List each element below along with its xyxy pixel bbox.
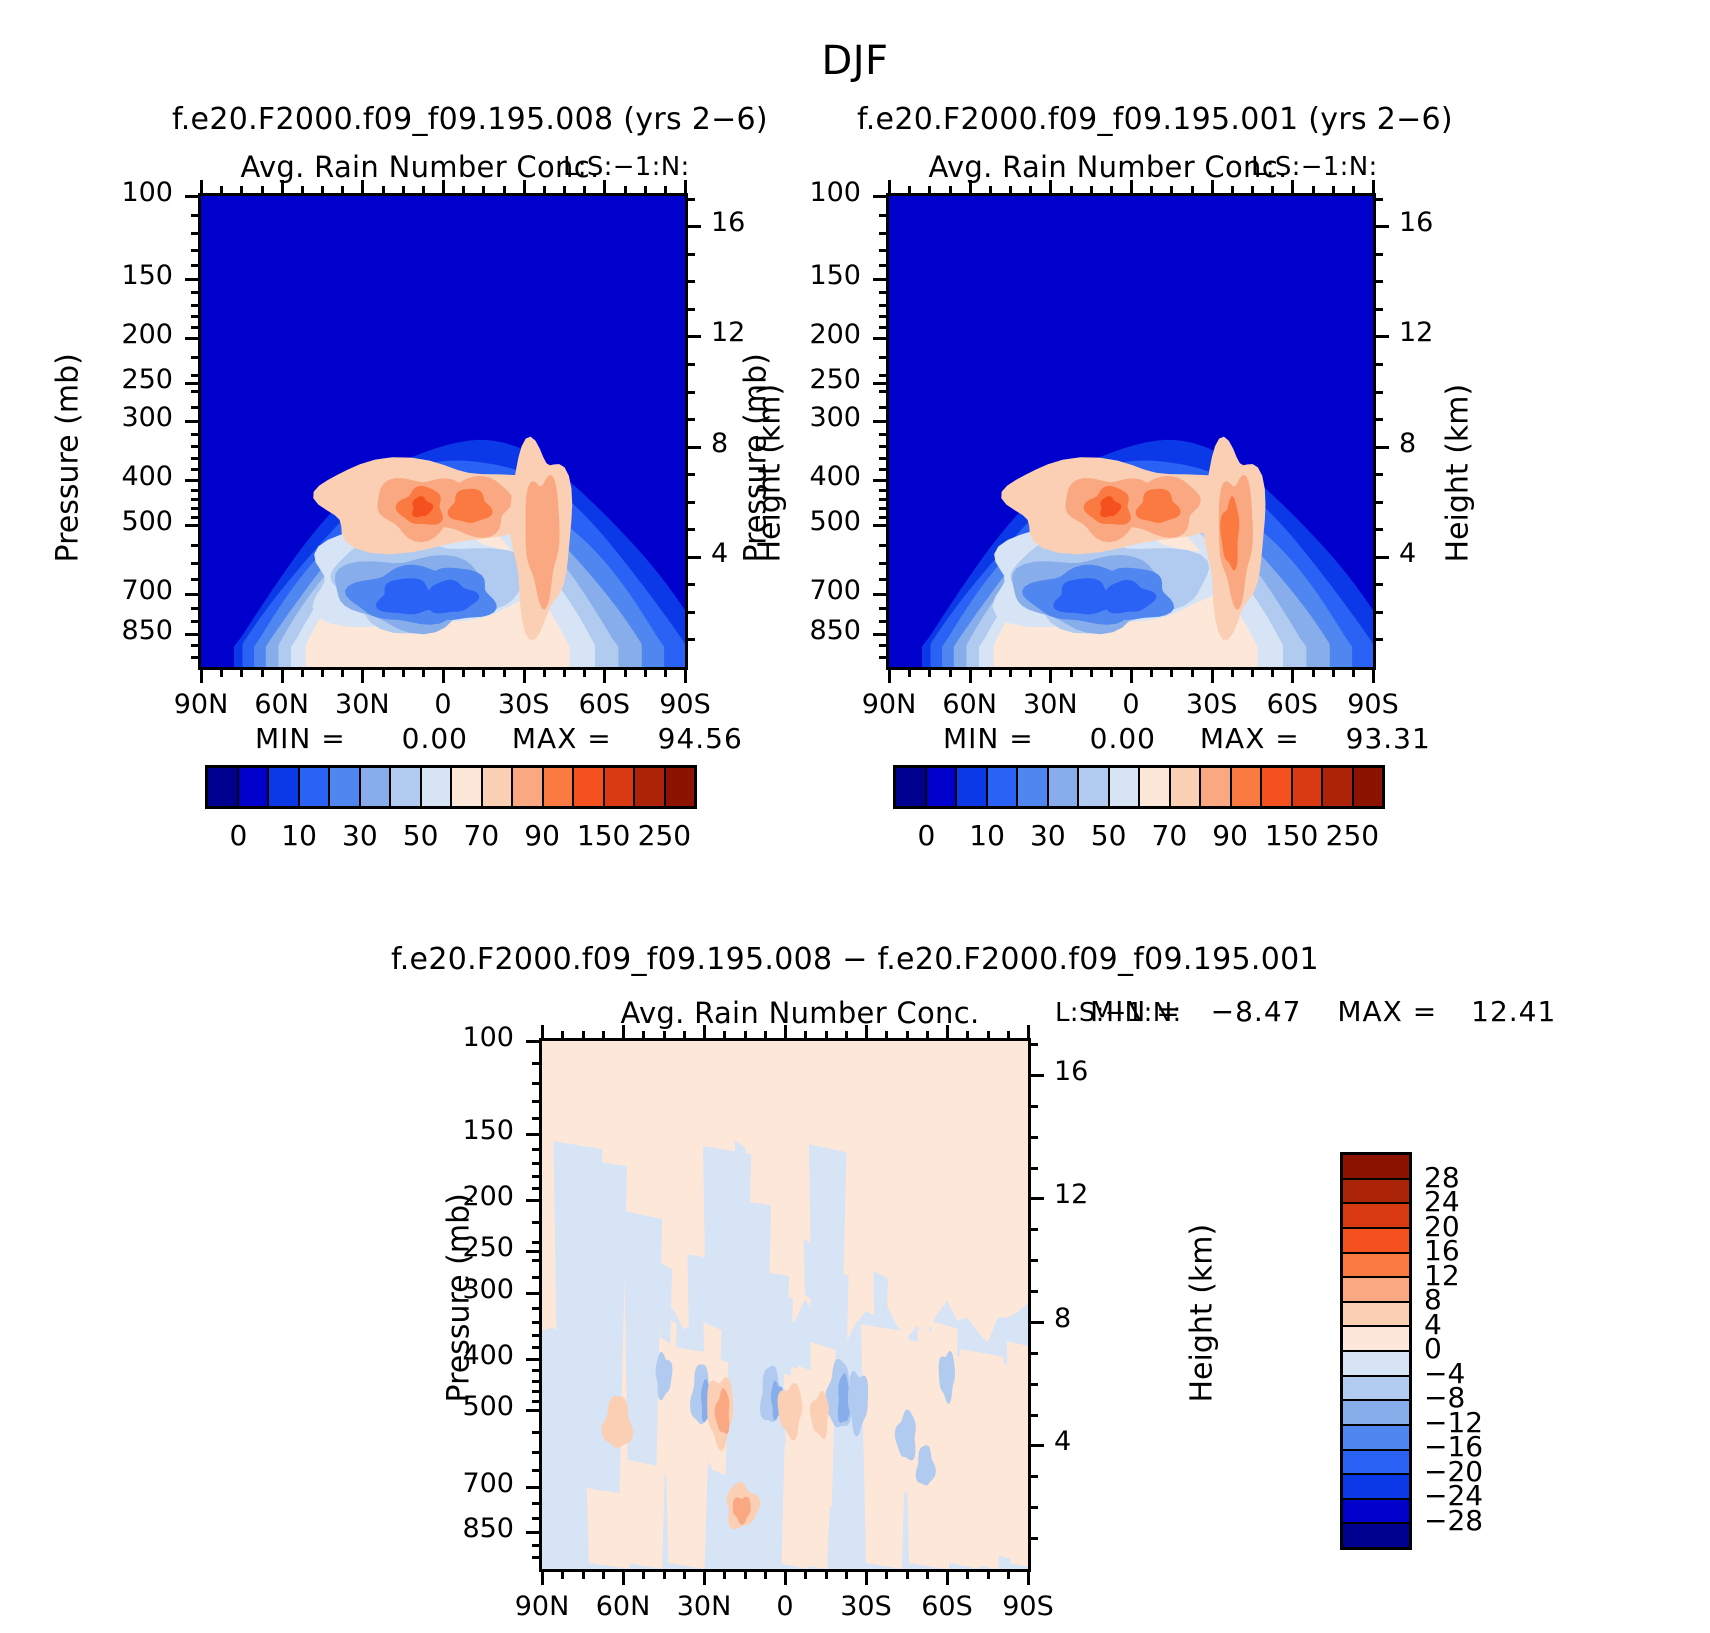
axis-tick xyxy=(442,667,445,683)
colorbar-swatch[interactable] xyxy=(574,768,605,806)
colorbar-swatch[interactable] xyxy=(1293,768,1324,806)
axis-tick xyxy=(532,1162,542,1165)
panel-difference-colorbar[interactable] xyxy=(1340,1152,1412,1550)
axis-tick xyxy=(885,1031,888,1041)
panel-top-left-ls-note: L:S:−1:N: xyxy=(563,152,690,182)
panel-top-right-max-value: 93.31 xyxy=(1346,722,1431,755)
axis-tick-label: 60S xyxy=(1249,689,1335,720)
axis-tick-label: 100 xyxy=(428,1022,514,1053)
axis-tick xyxy=(532,1380,542,1383)
colorbar-swatch[interactable] xyxy=(1343,1180,1409,1205)
axis-tick xyxy=(685,501,695,504)
axis-tick xyxy=(879,620,889,623)
axis-tick xyxy=(532,1469,542,1472)
panel-difference-height-axis-label: Height (km) xyxy=(1185,1143,1220,1403)
axis-tick xyxy=(532,1390,542,1393)
colorbar-swatch[interactable] xyxy=(1343,1524,1409,1547)
colorbar-tick-label: 250 xyxy=(638,819,690,852)
axis-tick-label: 0 xyxy=(1088,689,1174,720)
axis-tick xyxy=(1009,186,1012,196)
panel-top-left-min-label: MIN = xyxy=(255,722,346,755)
axis-tick xyxy=(1028,1290,1038,1293)
axis-tick-label: 30N xyxy=(661,1591,747,1622)
axis-tick xyxy=(532,1544,542,1547)
axis-tick xyxy=(583,186,586,196)
axis-tick xyxy=(644,186,647,196)
colorbar-swatch[interactable] xyxy=(1323,768,1354,806)
axis-tick xyxy=(684,667,687,683)
colorbar-swatch[interactable] xyxy=(1343,1327,1409,1352)
axis-tick xyxy=(764,1569,767,1579)
axis-tick-label: 30N xyxy=(1007,689,1093,720)
axis-tick xyxy=(1049,180,1052,196)
axis-tick xyxy=(1150,667,1153,677)
axis-tick xyxy=(185,633,201,636)
axis-tick-label: 4 xyxy=(1054,1426,1140,1457)
axis-tick-label: 8 xyxy=(1054,1303,1140,1334)
colorbar-swatch[interactable] xyxy=(1343,1475,1409,1500)
axis-tick-label: 90N xyxy=(158,689,244,720)
panel-difference-plot-area[interactable] xyxy=(539,1038,1031,1572)
colorbar-swatch[interactable] xyxy=(1343,1278,1409,1303)
colorbar-swatch[interactable] xyxy=(1343,1500,1409,1525)
axis-tick xyxy=(873,524,889,527)
axis-tick xyxy=(949,667,952,677)
axis-tick xyxy=(1373,225,1389,228)
axis-tick xyxy=(191,507,201,510)
panel-top-right-case-title: f.e20.F2000.f09_f09.195.001 (yrs 2−6) xyxy=(745,102,1565,137)
axis-tick xyxy=(703,1569,706,1585)
panel-top-left-min-value: 0.00 xyxy=(402,722,468,755)
axis-tick xyxy=(663,1031,666,1041)
colorbar-tick-label: 70 xyxy=(455,819,507,852)
axis-tick xyxy=(1291,180,1294,196)
axis-tick xyxy=(191,489,201,492)
axis-tick xyxy=(1049,667,1052,683)
panel-difference-minmax: MIN = −8.47 MAX = 12.41 xyxy=(1090,995,1556,1028)
axis-tick xyxy=(1373,583,1383,586)
panel-difference-max-value: 12.41 xyxy=(1471,995,1556,1028)
axis-tick xyxy=(685,638,695,641)
axis-tick xyxy=(879,644,889,647)
axis-tick xyxy=(879,264,889,267)
axis-tick-label: 60S xyxy=(904,1591,990,1622)
axis-tick xyxy=(563,667,566,677)
axis-tick xyxy=(1007,1031,1010,1041)
axis-tick-label: 850 xyxy=(775,615,861,646)
colorbar-swatch[interactable] xyxy=(988,768,1019,806)
axis-tick xyxy=(744,1569,747,1579)
axis-tick xyxy=(532,1321,542,1324)
colorbar-swatch[interactable] xyxy=(1018,768,1049,806)
axis-tick xyxy=(603,667,606,683)
axis-tick xyxy=(1271,186,1274,196)
axis-tick xyxy=(341,667,344,677)
axis-tick-label: 500 xyxy=(87,506,173,537)
axis-tick xyxy=(191,406,201,409)
axis-tick xyxy=(1373,446,1389,449)
panel-difference-min-value: −8.47 xyxy=(1211,995,1302,1028)
axis-tick-label: 400 xyxy=(87,461,173,492)
axis-tick xyxy=(873,593,889,596)
axis-tick xyxy=(622,1569,625,1585)
axis-tick xyxy=(191,445,201,448)
axis-tick xyxy=(532,1556,542,1559)
panel-top-left-max-label: MAX = xyxy=(512,722,612,755)
axis-tick xyxy=(563,186,566,196)
axis-tick xyxy=(1028,1228,1038,1231)
axis-tick-label: 200 xyxy=(428,1181,514,1212)
axis-tick xyxy=(946,1569,949,1585)
axis-tick xyxy=(191,468,201,471)
axis-tick xyxy=(1352,667,1355,677)
axis-tick xyxy=(532,1400,542,1403)
axis-tick xyxy=(1028,1043,1038,1046)
axis-tick xyxy=(926,1031,929,1041)
colorbar-tick-label: 30 xyxy=(1022,819,1074,852)
axis-tick xyxy=(1231,186,1234,196)
axis-tick xyxy=(928,186,931,196)
axis-tick xyxy=(1312,186,1315,196)
colorbar-swatch[interactable] xyxy=(300,768,331,806)
axis-tick xyxy=(191,232,201,235)
axis-tick xyxy=(1028,1383,1038,1386)
colorbar-swatch[interactable] xyxy=(269,768,300,806)
colorbar-swatch[interactable] xyxy=(1343,1254,1409,1279)
axis-tick-label: 12 xyxy=(1399,317,1485,348)
colorbar-tick-label: −28 xyxy=(1424,1504,1483,1537)
axis-tick xyxy=(532,1117,542,1120)
colorbar-swatch[interactable] xyxy=(391,768,422,806)
axis-tick-label: 90S xyxy=(985,1591,1071,1622)
axis-tick xyxy=(532,1334,542,1337)
colorbar-swatch[interactable] xyxy=(1262,768,1293,806)
axis-tick xyxy=(482,667,485,677)
axis-tick xyxy=(879,406,889,409)
colorbar-swatch[interactable] xyxy=(1171,768,1202,806)
axis-tick xyxy=(685,391,695,394)
colorbar-tick-label: 90 xyxy=(516,819,568,852)
axis-tick-label: 0 xyxy=(400,689,486,720)
colorbar-swatch[interactable] xyxy=(957,768,988,806)
panel-top-right-pressure-axis-label: Pressure (mb) xyxy=(739,303,774,563)
axis-tick xyxy=(879,498,889,501)
axis-tick xyxy=(582,1569,585,1579)
axis-tick-label: 850 xyxy=(428,1513,514,1544)
colorbar-swatch[interactable] xyxy=(452,768,483,806)
axis-tick-label: 850 xyxy=(87,615,173,646)
axis-tick xyxy=(1027,1025,1030,1041)
axis-tick xyxy=(602,1569,605,1579)
axis-tick xyxy=(1373,611,1383,614)
axis-tick xyxy=(784,1025,787,1041)
colorbar-swatch[interactable] xyxy=(330,768,361,806)
axis-tick xyxy=(1372,180,1375,196)
axis-tick-label: 300 xyxy=(428,1274,514,1305)
colorbar-swatch[interactable] xyxy=(1343,1204,1409,1229)
axis-tick xyxy=(1373,198,1383,201)
colorbar-swatch[interactable] xyxy=(1343,1401,1409,1426)
axis-tick-label: 500 xyxy=(428,1391,514,1422)
panel-top-left-colorbar[interactable] xyxy=(205,765,697,809)
axis-tick xyxy=(1211,667,1214,683)
axis-tick-label: 100 xyxy=(775,177,861,208)
panel-top-right-minmax: MIN = 0.00 MAX = 93.31 xyxy=(943,722,1431,755)
axis-tick xyxy=(845,1031,848,1041)
axis-tick xyxy=(879,607,889,610)
colorbar-swatch[interactable] xyxy=(605,768,636,806)
axis-tick xyxy=(532,1276,542,1279)
colorbar-swatch[interactable] xyxy=(1049,768,1080,806)
axis-tick-label: 16 xyxy=(1399,207,1485,238)
colorbar-swatch[interactable] xyxy=(1079,768,1110,806)
axis-tick xyxy=(685,225,701,228)
axis-tick xyxy=(200,180,203,196)
axis-tick xyxy=(1332,186,1335,196)
axis-tick xyxy=(764,1031,767,1041)
axis-tick xyxy=(526,1409,542,1412)
axis-tick xyxy=(1373,501,1383,504)
axis-tick xyxy=(703,1025,706,1041)
colorbar-swatch[interactable] xyxy=(1343,1155,1409,1180)
contour-band xyxy=(741,1231,757,1330)
axis-tick xyxy=(1110,667,1113,677)
axis-tick xyxy=(879,249,889,252)
contour-band xyxy=(1007,1341,1028,1569)
axis-tick xyxy=(532,1346,542,1349)
axis-tick xyxy=(532,1148,542,1151)
axis-tick xyxy=(1373,418,1383,421)
axis-tick xyxy=(1090,186,1093,196)
axis-tick xyxy=(949,186,952,196)
axis-tick xyxy=(1352,186,1355,196)
axis-tick xyxy=(532,1100,542,1103)
axis-tick xyxy=(1170,667,1173,677)
axis-tick xyxy=(301,186,304,196)
axis-tick-label: 30N xyxy=(319,689,405,720)
axis-tick xyxy=(321,667,324,677)
axis-tick-label: 90S xyxy=(642,689,728,720)
colorbar-swatch[interactable] xyxy=(1343,1303,1409,1328)
axis-tick xyxy=(1028,1321,1044,1324)
axis-tick xyxy=(301,667,304,677)
axis-tick xyxy=(191,644,201,647)
axis-tick xyxy=(1028,1197,1044,1200)
colorbar-swatch[interactable] xyxy=(1110,768,1141,806)
axis-tick xyxy=(191,516,201,519)
colorbar-swatch[interactable] xyxy=(927,768,958,806)
axis-tick xyxy=(685,446,701,449)
colorbar-tick-label: 250 xyxy=(1326,819,1378,852)
colorbar-swatch[interactable] xyxy=(1354,768,1383,806)
axis-tick xyxy=(191,578,201,581)
panel-top-right-min-value: 0.00 xyxy=(1090,722,1156,755)
axis-tick xyxy=(1373,473,1383,476)
axis-tick xyxy=(532,1175,542,1178)
axis-tick xyxy=(185,593,201,596)
axis-tick xyxy=(191,315,201,318)
axis-tick xyxy=(462,667,465,677)
colorbar-swatch[interactable] xyxy=(1140,768,1171,806)
colorbar-swatch[interactable] xyxy=(1343,1229,1409,1254)
axis-tick xyxy=(664,186,667,196)
axis-tick xyxy=(873,278,889,281)
axis-tick xyxy=(1028,1136,1038,1139)
axis-tick xyxy=(879,304,889,307)
axis-tick xyxy=(281,667,284,683)
colorbar-swatch[interactable] xyxy=(1343,1451,1409,1476)
panel-top-left-minmax: MIN = 0.00 MAX = 94.56 xyxy=(255,722,743,755)
colorbar-swatch[interactable] xyxy=(1343,1352,1409,1377)
axis-tick xyxy=(873,420,889,423)
axis-tick xyxy=(879,656,889,659)
colorbar-swatch[interactable] xyxy=(1201,768,1232,806)
axis-tick xyxy=(683,1569,686,1579)
axis-tick xyxy=(462,186,465,196)
axis-tick xyxy=(1231,667,1234,677)
axis-tick xyxy=(191,356,201,359)
axis-tick xyxy=(873,337,889,340)
axis-tick xyxy=(879,374,889,377)
axis-tick xyxy=(1130,667,1133,683)
axis-tick xyxy=(845,1569,848,1579)
panel-top-left-plot-area[interactable] xyxy=(198,193,688,670)
axis-tick xyxy=(191,214,201,217)
colorbar-swatch[interactable] xyxy=(635,768,666,806)
axis-tick xyxy=(503,667,506,677)
axis-tick xyxy=(873,633,889,636)
axis-tick xyxy=(191,390,201,393)
axis-tick xyxy=(382,667,385,677)
axis-tick xyxy=(191,562,201,565)
panel-top-right-colorbar[interactable] xyxy=(893,765,1385,809)
axis-tick xyxy=(879,390,889,393)
axis-tick xyxy=(1070,186,1073,196)
colorbar-swatch[interactable] xyxy=(1232,768,1263,806)
colorbar-swatch[interactable] xyxy=(483,768,514,806)
axis-tick xyxy=(873,195,889,198)
panel-top-right-plot-area[interactable] xyxy=(886,193,1376,670)
axis-tick-label: 700 xyxy=(775,575,861,606)
contour-band xyxy=(583,1306,603,1432)
axis-tick xyxy=(321,186,324,196)
axis-tick xyxy=(191,374,201,377)
colorbar-swatch[interactable] xyxy=(239,768,270,806)
axis-tick xyxy=(685,473,695,476)
axis-tick xyxy=(1028,1537,1038,1540)
axis-tick xyxy=(1373,363,1383,366)
axis-tick xyxy=(442,180,445,196)
axis-tick xyxy=(532,1502,542,1505)
axis-tick-label: 150 xyxy=(428,1115,514,1146)
axis-tick-label: 90S xyxy=(1330,689,1416,720)
axis-tick xyxy=(879,468,889,471)
axis-tick xyxy=(532,1062,542,1065)
axis-tick-label: 700 xyxy=(428,1468,514,1499)
axis-tick xyxy=(422,186,425,196)
axis-tick xyxy=(532,1241,542,1244)
colorbar-swatch[interactable] xyxy=(1343,1426,1409,1451)
axis-tick xyxy=(825,1031,828,1041)
colorbar-swatch[interactable] xyxy=(361,768,392,806)
axis-tick-label: 200 xyxy=(87,319,173,350)
axis-tick xyxy=(191,498,201,501)
axis-tick xyxy=(744,1031,747,1041)
axis-tick-label: 250 xyxy=(428,1232,514,1263)
axis-tick xyxy=(583,667,586,677)
axis-tick xyxy=(261,186,264,196)
axis-tick xyxy=(684,180,687,196)
axis-tick xyxy=(663,1569,666,1579)
axis-tick xyxy=(642,1569,645,1579)
axis-tick xyxy=(503,186,506,196)
axis-tick xyxy=(523,180,526,196)
axis-tick xyxy=(1009,667,1012,677)
axis-tick xyxy=(185,195,201,198)
axis-tick xyxy=(1373,280,1383,283)
colorbar-swatch[interactable] xyxy=(666,768,695,806)
axis-tick xyxy=(1373,335,1389,338)
axis-tick xyxy=(1251,186,1254,196)
axis-tick xyxy=(879,214,889,217)
colorbar-tick-label: 30 xyxy=(334,819,386,852)
axis-tick xyxy=(191,457,201,460)
axis-tick xyxy=(1028,1506,1038,1509)
axis-tick xyxy=(1028,1475,1038,1478)
axis-tick xyxy=(532,1187,542,1190)
axis-tick xyxy=(191,264,201,267)
axis-tick xyxy=(1029,186,1032,196)
panel-difference-min-label: MIN = xyxy=(1090,995,1181,1028)
panel-difference-case-title: f.e20.F2000.f09_f09.195.008 − f.e20.F200… xyxy=(155,942,1555,977)
axis-tick xyxy=(526,1040,542,1043)
axis-tick-label: 400 xyxy=(775,461,861,492)
axis-tick xyxy=(926,1569,929,1579)
colorbar-swatch[interactable] xyxy=(422,768,453,806)
axis-tick xyxy=(1028,1167,1038,1170)
axis-tick xyxy=(191,620,201,623)
axis-tick xyxy=(526,1358,542,1361)
axis-tick xyxy=(685,528,695,531)
axis-tick xyxy=(185,524,201,527)
axis-tick xyxy=(879,315,889,318)
axis-tick xyxy=(879,433,889,436)
axis-tick xyxy=(1170,186,1173,196)
axis-tick-label: 60N xyxy=(239,689,325,720)
axis-tick xyxy=(1028,1414,1038,1417)
axis-tick-label: 30S xyxy=(1169,689,1255,720)
axis-tick xyxy=(1029,667,1032,677)
figure-title: DJF xyxy=(0,38,1710,84)
axis-tick-label: 16 xyxy=(1054,1056,1140,1087)
colorbar-swatch[interactable] xyxy=(208,768,239,806)
axis-tick xyxy=(873,382,889,385)
colorbar-swatch[interactable] xyxy=(513,768,544,806)
axis-tick xyxy=(200,667,203,683)
axis-tick xyxy=(879,562,889,565)
axis-tick xyxy=(879,516,889,519)
colorbar-swatch[interactable] xyxy=(896,768,927,806)
axis-tick xyxy=(240,667,243,677)
axis-tick xyxy=(879,445,889,448)
axis-tick xyxy=(1332,667,1335,677)
colorbar-swatch[interactable] xyxy=(1343,1377,1409,1402)
colorbar-swatch[interactable] xyxy=(544,768,575,806)
axis-tick xyxy=(543,186,546,196)
axis-tick xyxy=(888,180,891,196)
axis-tick xyxy=(602,1031,605,1041)
axis-tick-label: 90N xyxy=(846,689,932,720)
